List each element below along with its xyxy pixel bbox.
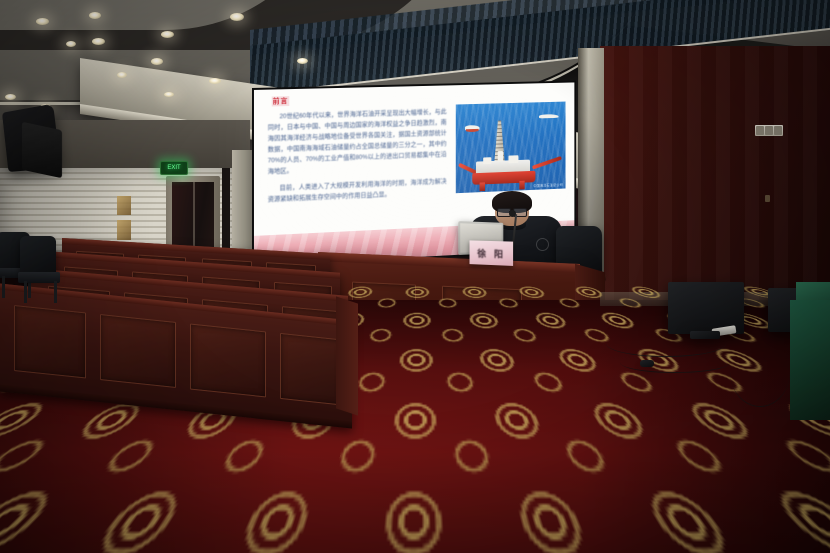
placard-char-1: 徐	[477, 246, 488, 259]
wall-plaque	[117, 220, 131, 239]
draped-table	[790, 300, 830, 420]
wall-socket[interactable]	[765, 195, 770, 202]
slide-paragraph-1: 20世纪60年代以来，世界海洋石油开采呈现出大幅增长，与此同时，日本与中国、中国…	[268, 107, 447, 178]
downlight-icon	[161, 31, 174, 38]
downlight-icon	[117, 72, 127, 78]
ceiling-speaker-body	[22, 122, 62, 179]
rig-leg	[519, 181, 524, 190]
rig-leg	[480, 182, 485, 191]
conference-hall-photo: EXIT 前言 20世纪60年代以来，世界海洋石油开采呈现出大幅增长，与此同时，…	[0, 0, 830, 553]
downlight-icon	[209, 78, 221, 84]
desk-row-end-cap	[336, 296, 358, 415]
downlight-icon	[297, 58, 308, 64]
offshore-oil-platform-photo: 中国海洋石油总公司	[456, 102, 566, 194]
microphone-icon	[509, 210, 516, 217]
name-placard: 徐 阳	[470, 240, 514, 266]
switch-rocker[interactable]	[774, 126, 782, 135]
downlight-icon	[66, 41, 76, 47]
side-chair-leg	[54, 281, 57, 303]
desk-panel	[280, 333, 342, 406]
desk-panel	[190, 323, 266, 397]
side-chair-leg	[24, 281, 27, 303]
desk-panel	[100, 314, 176, 388]
wall-plaque	[117, 196, 131, 215]
rig-crane	[498, 151, 503, 162]
downlight-icon	[36, 18, 49, 25]
placard-char-2: 阳	[494, 247, 505, 260]
right-wall-maroon	[600, 46, 830, 318]
floor-cable	[620, 352, 730, 373]
side-chair-leg	[2, 276, 5, 298]
wall-switch-plate[interactable]	[755, 125, 783, 136]
rig-module	[483, 157, 491, 164]
slide-title: 前言	[272, 96, 290, 106]
cable-connector	[640, 360, 654, 367]
tanker-vessel	[539, 114, 559, 118]
desk-panel	[14, 305, 86, 379]
switch-rocker[interactable]	[756, 126, 764, 135]
downlight-icon	[230, 13, 244, 21]
jacket-logo-badge	[536, 238, 549, 251]
exit-sign-label: EXIT	[167, 165, 180, 171]
slide-paragraph-2: 目前，人类进入了大规模开发利用海洋的时期，海洋成为解决资源紧缺和拓展生存空间中的…	[268, 176, 447, 205]
downlight-icon	[164, 92, 174, 97]
downlight-icon	[151, 58, 163, 65]
switch-rocker[interactable]	[765, 126, 773, 135]
rig-module	[509, 155, 519, 163]
downlight-icon	[89, 12, 101, 19]
downlight-icon	[5, 94, 16, 100]
slide-body-text: 20世纪60年代以来，世界海洋石油开采呈现出大幅增长，与此同时，日本与中国、中国…	[268, 107, 447, 212]
exit-sign: EXIT	[160, 161, 188, 175]
floor-cable	[730, 336, 790, 407]
downlight-icon	[92, 38, 105, 45]
